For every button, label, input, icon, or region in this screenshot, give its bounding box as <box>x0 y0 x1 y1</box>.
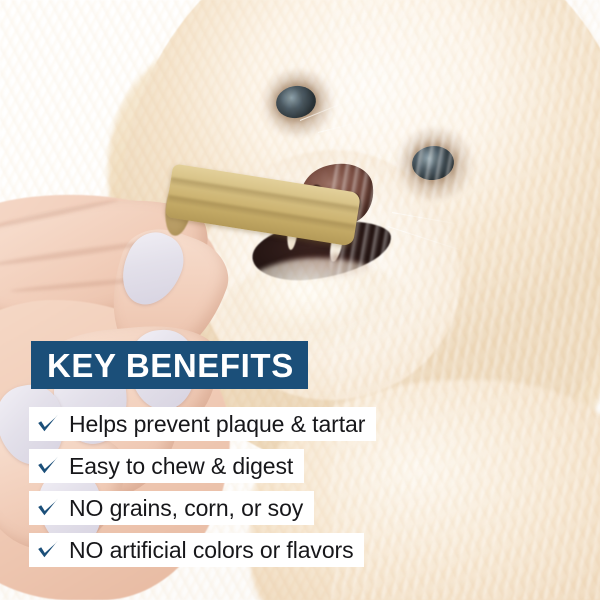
benefit-item: NO artificial colors or flavors <box>29 533 364 567</box>
check-icon <box>35 411 61 437</box>
benefit-label: NO grains, corn, or soy <box>69 497 303 520</box>
benefits-list: Helps prevent plaque & tartar Easy to ch… <box>29 407 376 567</box>
benefit-item: Easy to chew & digest <box>29 449 304 483</box>
key-benefits-title: KEY BENEFITS <box>47 349 294 382</box>
benefit-label: NO artificial colors or flavors <box>69 539 353 562</box>
benefit-item: NO grains, corn, or soy <box>29 491 314 525</box>
check-icon <box>35 495 61 521</box>
check-icon <box>35 453 61 479</box>
benefit-label: Helps prevent plaque & tartar <box>69 413 365 436</box>
benefit-item: Helps prevent plaque & tartar <box>29 407 376 441</box>
check-icon <box>35 537 61 563</box>
key-benefits-poster: KEY BENEFITS Helps prevent plaque & tart… <box>0 0 600 600</box>
benefit-label: Easy to chew & digest <box>69 455 293 478</box>
key-benefits-banner: KEY BENEFITS <box>31 341 308 389</box>
